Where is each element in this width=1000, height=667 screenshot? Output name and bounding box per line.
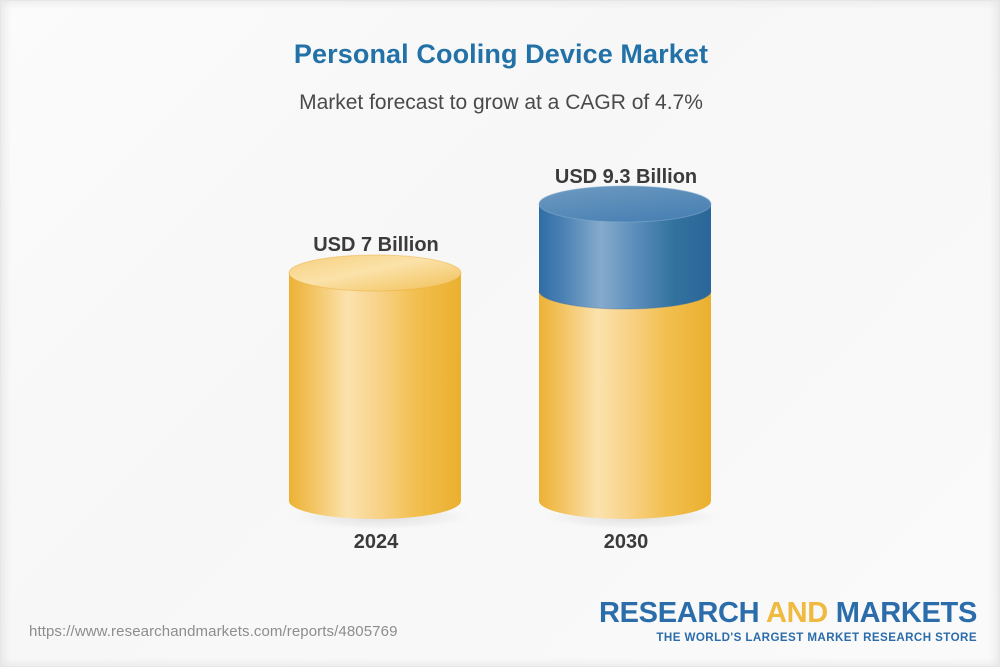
- source-url[interactable]: https://www.researchandmarkets.com/repor…: [29, 623, 398, 640]
- cylinder-2024: [277, 191, 475, 531]
- brand-word-research: RESEARCH: [599, 597, 766, 629]
- bar-category-label-2030: 2030: [539, 531, 713, 554]
- cylinder-body: [289, 273, 461, 519]
- brand-logo[interactable]: RESEARCH AND MARKETS THE WORLD'S LARGEST…: [599, 599, 977, 644]
- cylinder-2030: [527, 191, 725, 531]
- market-forecast-infographic: Personal Cooling Device Market Market fo…: [0, 0, 1000, 667]
- brand-tagline: THE WORLD'S LARGEST MARKET RESEARCH STOR…: [599, 631, 977, 644]
- brand-wordmark: RESEARCH AND MARKETS: [599, 599, 977, 629]
- brand-word-and: AND: [766, 597, 828, 629]
- bar-category-label-2024: 2024: [289, 531, 463, 554]
- bar-chart-plot-area: USD 7 Billion: [1, 1, 1000, 667]
- cylinder-base-segment: [539, 291, 711, 519]
- brand-word-markets: MARKETS: [828, 597, 977, 629]
